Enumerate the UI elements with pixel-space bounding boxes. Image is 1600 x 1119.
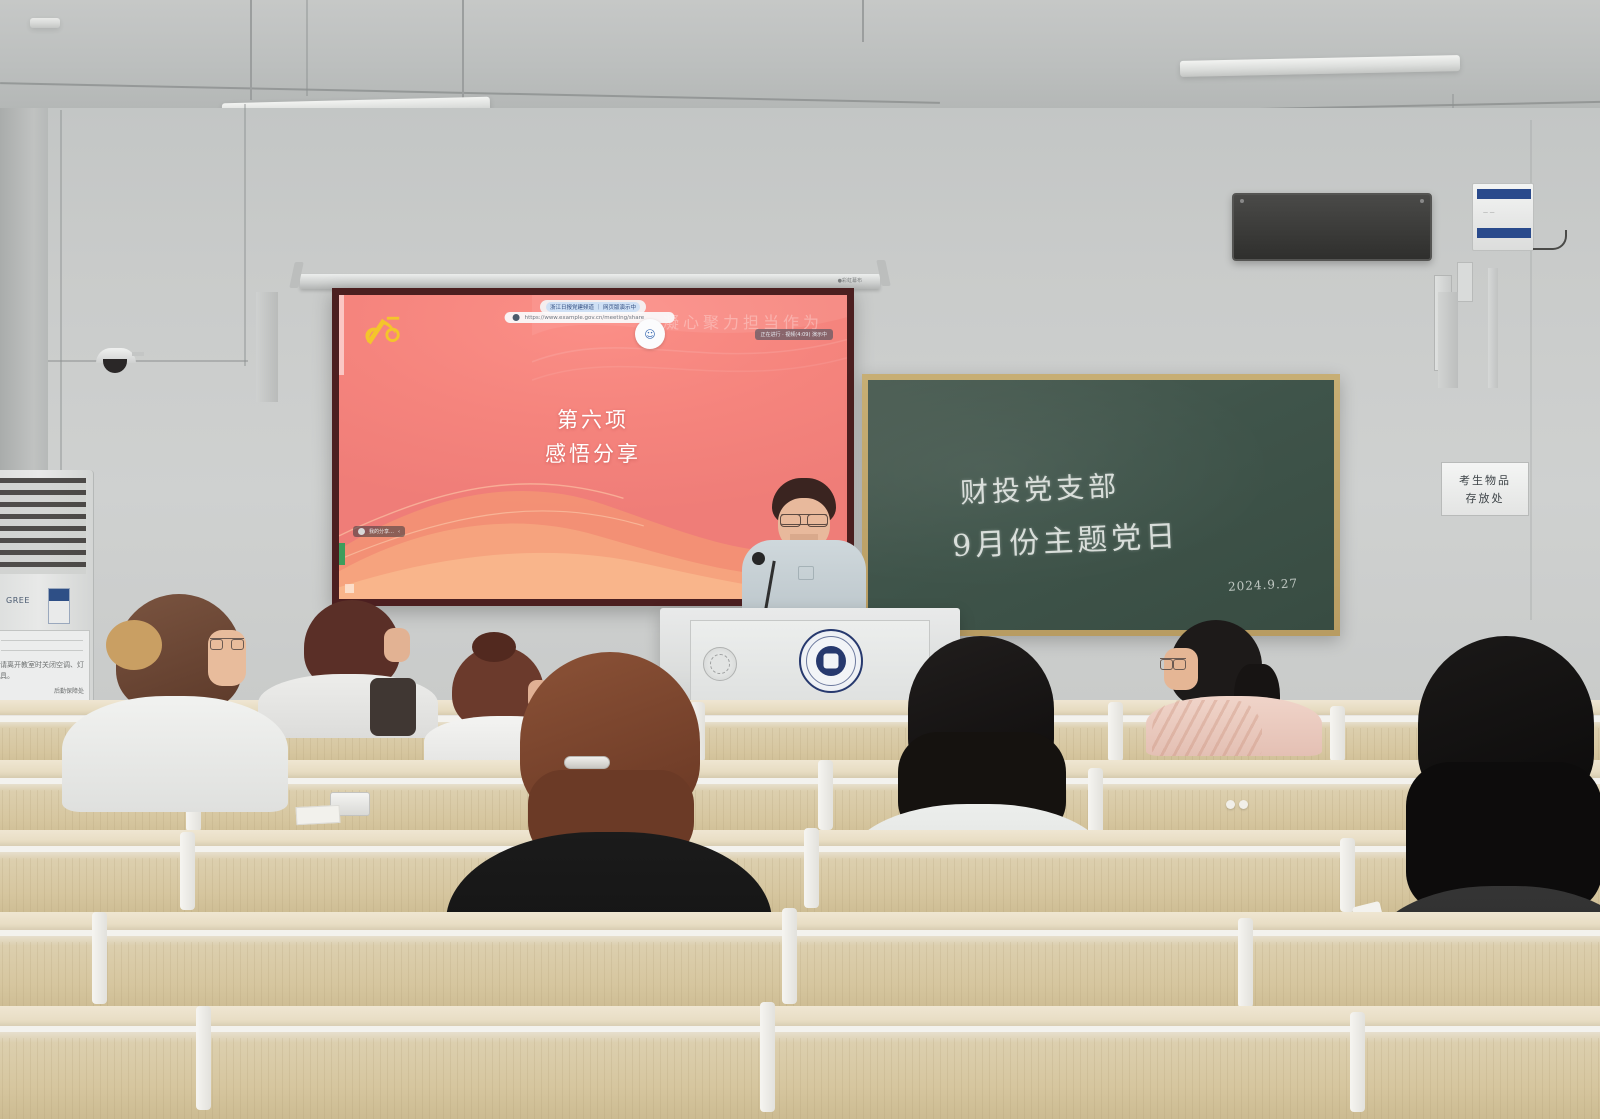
- paper-sheet[interactable]: [296, 805, 341, 825]
- wall-seam: [244, 104, 246, 366]
- desk-divider: [92, 912, 107, 1004]
- student-hair-bun: [106, 620, 162, 670]
- slide-edge-green-marker: [339, 543, 345, 565]
- earbud-right: [1239, 800, 1248, 809]
- wall-conduit: [1488, 268, 1498, 388]
- speaker-screw: [1420, 199, 1424, 203]
- meeting-status-text: 正在进行 · 视频(4:09) 演示中: [761, 331, 828, 338]
- glasses-icon: [780, 514, 828, 525]
- student-person: [62, 584, 292, 814]
- student-torso: [62, 696, 288, 812]
- slide-corner-marker: [345, 584, 354, 593]
- control-box-label-top: [1477, 189, 1531, 199]
- desk-divider: [804, 828, 819, 908]
- student-person: [1146, 620, 1326, 752]
- classroom-scene: GREE 请离开教室时关闭空调、灯具。 后勤保障处 ●彩虹幕布: [0, 0, 1600, 1119]
- presenter-shirt-pocket: [798, 566, 814, 580]
- blackboard: 财投党支部 9月份主题党日 2024.9.27: [862, 374, 1340, 636]
- exam-sign-line-2: 存放处: [1466, 490, 1505, 506]
- desk-divider: [1350, 1012, 1365, 1112]
- sharing-control-pill[interactable]: 我的分享… ‹: [353, 526, 405, 537]
- desk-divider: [818, 760, 833, 830]
- camera-lens: [103, 359, 127, 373]
- meeting-avatar-icon[interactable]: ☺: [635, 319, 665, 349]
- browser-tab-label[interactable]: 浙江日报党建频道 ｜ 网页版演示中: [546, 302, 640, 312]
- glasses-icon: [1160, 658, 1186, 667]
- dome-security-camera: [96, 348, 136, 374]
- blackboard-surface: 财投党支部 9月份主题党日 2024.9.27: [868, 380, 1334, 630]
- blackboard-line-2: 9月份主题党日: [951, 511, 1180, 565]
- speaker-screw: [1240, 199, 1244, 203]
- slide-edge-highlight: [339, 295, 344, 375]
- ac-air-louvers: [0, 478, 86, 574]
- desk-divider: [760, 1002, 775, 1112]
- ceiling-light-fixture: [30, 18, 60, 28]
- wall-speaker: [1232, 193, 1432, 261]
- projector-screen-housing: ●彩虹幕布: [300, 274, 880, 289]
- light-suspension-rod: [462, 0, 464, 108]
- wall-trim: [48, 360, 248, 362]
- ac-brand-logo: GREE: [6, 596, 30, 605]
- desk-divider: [1238, 918, 1253, 1008]
- seal-center-glyph: [816, 646, 846, 676]
- desk-row-d: [0, 930, 1600, 1016]
- collapse-chevron-icon[interactable]: ‹: [398, 529, 400, 535]
- exam-sign-line-1: 考生物品: [1459, 472, 1511, 488]
- presenter-person: [736, 478, 872, 618]
- desk-divider: [180, 832, 195, 910]
- ceiling-joint: [306, 0, 308, 96]
- earbud-left: [1226, 800, 1235, 809]
- cpc-party-emblem-icon: [361, 313, 407, 351]
- earbuds[interactable]: [1226, 800, 1248, 809]
- desk-divider: [196, 1006, 211, 1110]
- camera-mount-arm: [132, 352, 144, 356]
- wall-control-box[interactable]: — —: [1472, 183, 1534, 251]
- light-suspension-rod: [250, 0, 252, 100]
- exam-belongings-sign: 考生物品 存放处: [1441, 462, 1529, 516]
- blackboard-line-1: 财投党支部: [959, 464, 1121, 511]
- screen-wall-mount-left: [256, 292, 278, 402]
- desk-divider: [782, 908, 797, 1004]
- microphone-icon: [752, 552, 765, 565]
- wall-switch-small[interactable]: [1457, 262, 1473, 302]
- slide-subtitle: 感悟分享: [339, 438, 847, 468]
- sharing-indicator-icon: [358, 528, 365, 535]
- control-box-text: — —: [1483, 210, 1495, 216]
- floral-pattern: [1152, 700, 1262, 756]
- screen-wall-mount-right: [1438, 292, 1458, 388]
- glasses-icon: [210, 638, 244, 647]
- housing-brand-label: ●彩虹幕布: [838, 277, 862, 284]
- lock-icon: [513, 314, 520, 321]
- sharing-label: 我的分享…: [369, 528, 394, 535]
- meeting-status-pill[interactable]: 正在进行 · 视频(4:09) 演示中: [755, 329, 834, 340]
- hair-clip: [564, 756, 610, 769]
- control-box-label-bottom: [1477, 228, 1531, 238]
- slide-title: 第六项: [339, 404, 847, 434]
- desk-divider: [1330, 706, 1345, 762]
- blackboard-date: 2024.9.27: [1228, 576, 1299, 594]
- address-bar-url[interactable]: https://www.example.gov.cn/meeting/share: [525, 315, 645, 321]
- light-suspension-rod: [862, 0, 864, 42]
- student-face-side: [384, 628, 410, 662]
- student-bag-strap: [370, 678, 416, 736]
- desk-divider: [1340, 838, 1355, 912]
